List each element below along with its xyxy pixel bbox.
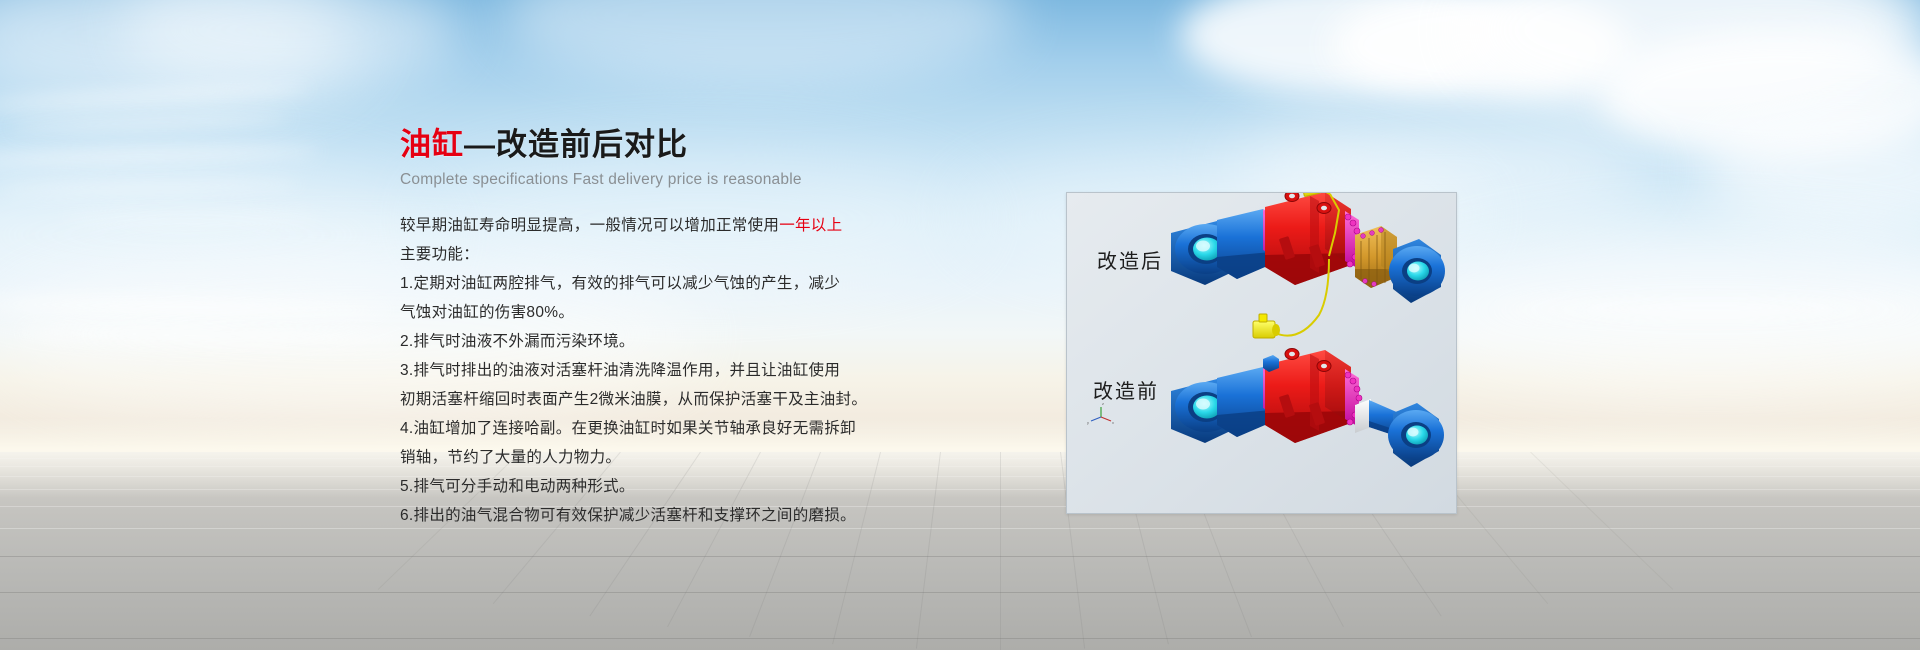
cloud-streak <box>60 214 320 222</box>
tile-seam <box>0 506 1920 507</box>
section-label: 主要功能： <box>400 240 920 269</box>
intro-lead: 较早期油缸寿命明显提高，一般情况可以增加正常使用 <box>400 217 779 234</box>
tile-seam <box>0 528 1920 529</box>
svg-text:x: x <box>1112 420 1114 425</box>
feature-item-5a: 5.排气可分手动和电动两种形式。 <box>400 472 920 501</box>
cylinder-diagram-svg: z x y <box>1067 193 1456 513</box>
feature-item-4b: 销轴，节约了大量的人力物力。 <box>400 443 920 472</box>
tile-seam <box>0 556 1920 557</box>
feature-item-3b: 初期活塞杆缩回时表面产生2微米油膜，从而保护活塞干及主油封。 <box>400 385 920 414</box>
feature-item-1a: 1.定期对油缸两腔排气，有效的排气可以减少气蚀的产生，减少 <box>400 269 920 298</box>
cloud-streak <box>1500 300 1920 316</box>
feature-item-3a: 3.排气时排出的油液对活塞杆油清洗降温作用，并且让油缸使用 <box>400 356 920 385</box>
intro-line: 较早期油缸寿命明显提高，一般情况可以增加正常使用一年以上 <box>400 211 920 240</box>
label-after: 改造后 <box>1097 245 1163 274</box>
tile-seam <box>0 466 1920 467</box>
title-highlight: 油缸 <box>400 127 464 162</box>
feature-text-block: 较早期油缸寿命明显提高，一般情况可以增加正常使用一年以上 主要功能： 1.定期对… <box>400 211 920 530</box>
product-image-panel: z x y 改造后 改造前 <box>1066 192 1457 514</box>
title-rest: —改造前后对比 <box>464 127 688 162</box>
svg-text:y: y <box>1087 420 1089 425</box>
intro-highlight: 一年以上 <box>779 217 842 234</box>
banner-copy: 油缸—改造前后对比 Complete specifications Fast d… <box>400 128 920 530</box>
feature-item-4a: 4.油缸增加了连接哈副。在更换油缸时如果关节轴承良好无需拆卸 <box>400 414 920 443</box>
ground-plaza <box>0 452 1920 650</box>
page-subtitle: Complete specifications Fast delivery pr… <box>400 171 920 189</box>
banner-stage: 油缸—改造前后对比 Complete specifications Fast d… <box>0 0 1920 650</box>
tile-seam <box>0 458 1920 459</box>
tile-seam <box>0 592 1920 593</box>
tile-seam <box>1000 452 1001 650</box>
tile-seam <box>0 638 1920 639</box>
feature-item-2a: 2.排气时油液不外漏而污染环境。 <box>400 327 920 356</box>
page-title: 油缸—改造前后对比 <box>400 128 920 162</box>
feature-item-1b: 气蚀对油缸的伤害80%。 <box>400 298 920 327</box>
tile-seam <box>0 476 1920 477</box>
feature-item-6a: 6.排出的油气混合物可有效保护减少活塞杆和支撑环之间的磨损。 <box>400 501 920 530</box>
tile-seam <box>0 489 1920 490</box>
cylinder-comparison-illustration: z x y 改造后 改造前 <box>1067 193 1456 513</box>
label-before: 改造前 <box>1093 375 1159 404</box>
